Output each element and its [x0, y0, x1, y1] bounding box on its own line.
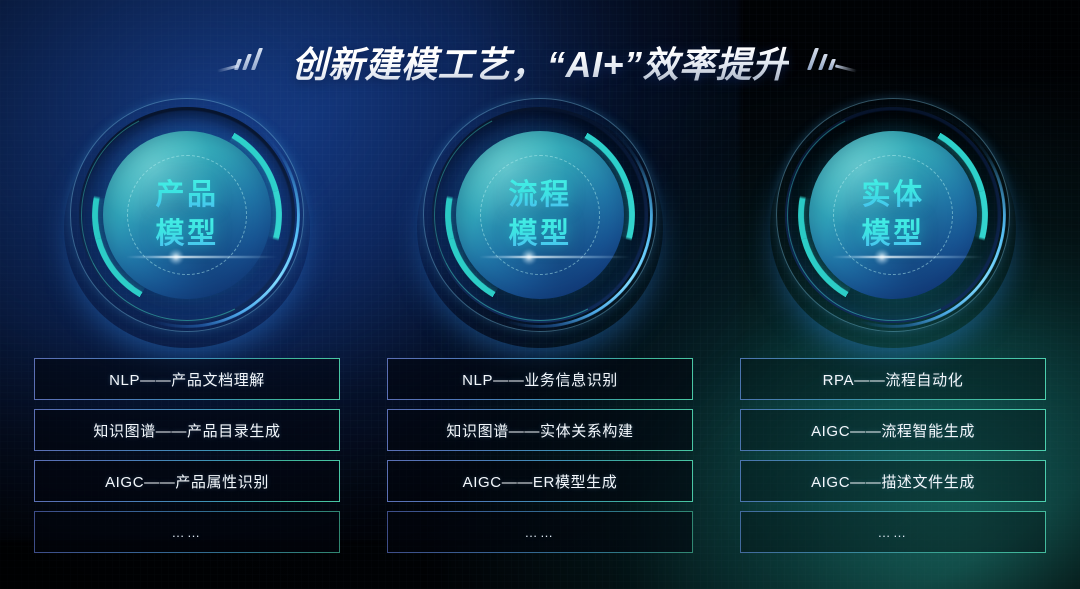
list-item[interactable]: RPA——流程自动化 — [740, 358, 1046, 400]
list-item-more[interactable]: …… — [387, 511, 693, 553]
orb-label-line1: 流程 — [508, 177, 571, 214]
orb-label-line1: 产品 — [155, 177, 218, 214]
list-item[interactable]: AIGC——流程智能生成 — [740, 409, 1046, 451]
list-item-label: AIGC——描述文件生成 — [811, 471, 975, 492]
list-item-label: RPA——流程自动化 — [823, 369, 964, 390]
list-item[interactable]: 知识图谱——产品目录生成 — [34, 409, 340, 451]
orb-label-product-model: 产品 模型 — [70, 98, 304, 332]
orb-label-line2: 模型 — [508, 216, 571, 253]
list-item-label: 知识图谱——产品目录生成 — [93, 420, 280, 441]
column-process-model: 流程 模型 NLP——业务信息识别 知识图谱——实体关系构建 AIGC——ER模… — [387, 98, 693, 568]
list-item[interactable]: NLP——产品文档理解 — [34, 358, 340, 400]
item-list-process-model: NLP——业务信息识别 知识图谱——实体关系构建 AIGC——ER模型生成 …… — [387, 358, 693, 553]
list-item-label: NLP——业务信息识别 — [462, 369, 618, 390]
column-entity-model: 实体 模型 RPA——流程自动化 AIGC——流程智能生成 AIGC——描述文件… — [740, 98, 1046, 568]
slant-ticks-left-icon — [225, 47, 277, 77]
column-product-model: 产品 模型 NLP——产品文档理解 知识图谱——产品目录生成 AIGC——产品属… — [34, 98, 340, 568]
list-item-label: AIGC——流程智能生成 — [811, 420, 975, 441]
list-item-label: …… — [878, 525, 909, 540]
columns-container: 产品 模型 NLP——产品文档理解 知识图谱——产品目录生成 AIGC——产品属… — [0, 98, 1080, 568]
page-title-text: 创新建模工艺，“AI+”效率提升 — [291, 36, 788, 88]
list-item-label: …… — [525, 525, 556, 540]
orb-product-model[interactable]: 产品 模型 — [70, 98, 304, 332]
list-item[interactable]: AIGC——产品属性识别 — [34, 460, 340, 502]
page-title: 创新建模工艺，“AI+”效率提升 — [0, 34, 1080, 90]
orb-label-entity-model: 实体 模型 — [776, 98, 1010, 332]
list-item-more[interactable]: …… — [34, 511, 340, 553]
list-item-label: AIGC——产品属性识别 — [105, 471, 269, 492]
orb-process-model[interactable]: 流程 模型 — [423, 98, 657, 332]
slant-ticks-right-icon — [803, 47, 855, 77]
item-list-product-model: NLP——产品文档理解 知识图谱——产品目录生成 AIGC——产品属性识别 …… — [34, 358, 340, 553]
list-item-label: 知识图谱——实体关系构建 — [446, 420, 633, 441]
list-item[interactable]: NLP——业务信息识别 — [387, 358, 693, 400]
item-list-entity-model: RPA——流程自动化 AIGC——流程智能生成 AIGC——描述文件生成 …… — [740, 358, 1046, 553]
orb-label-line1: 实体 — [861, 177, 924, 214]
list-item[interactable]: AIGC——描述文件生成 — [740, 460, 1046, 502]
list-item-label: NLP——产品文档理解 — [109, 369, 265, 390]
list-item-more[interactable]: …… — [740, 511, 1046, 553]
orb-label-line2: 模型 — [861, 216, 924, 253]
slide-canvas: 创新建模工艺，“AI+”效率提升 — [0, 0, 1080, 589]
list-item[interactable]: 知识图谱——实体关系构建 — [387, 409, 693, 451]
orb-label-process-model: 流程 模型 — [423, 98, 657, 332]
list-item[interactable]: AIGC——ER模型生成 — [387, 460, 693, 502]
list-item-label: AIGC——ER模型生成 — [463, 471, 618, 492]
orb-entity-model[interactable]: 实体 模型 — [776, 98, 1010, 332]
orb-label-line2: 模型 — [155, 216, 218, 253]
list-item-label: …… — [172, 525, 203, 540]
